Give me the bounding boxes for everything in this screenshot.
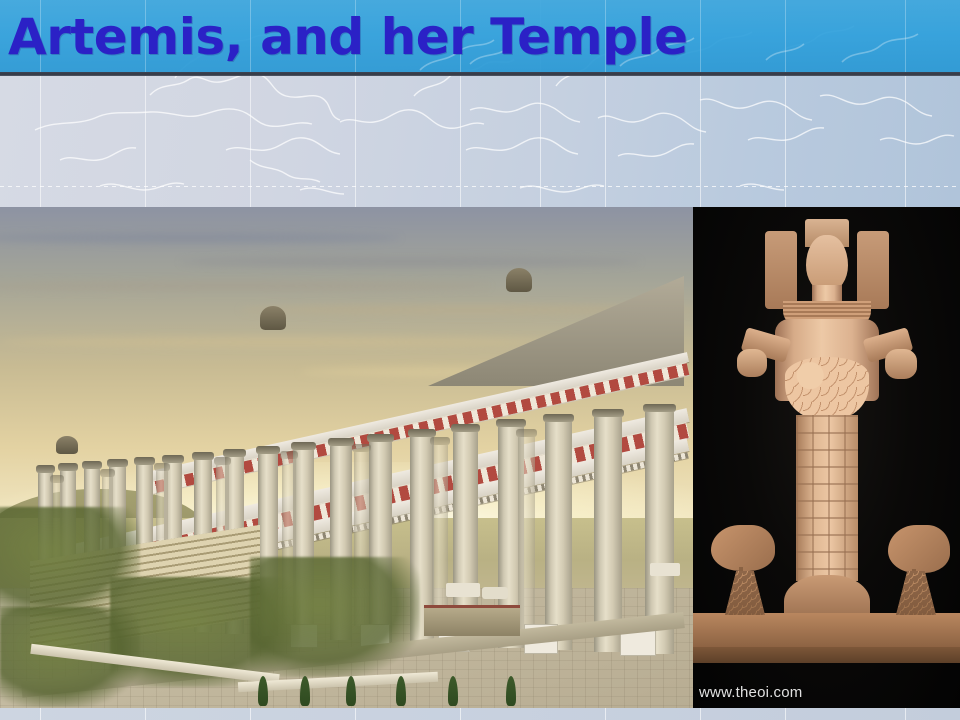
statue-plinth	[693, 613, 960, 647]
cloud-streak	[0, 233, 400, 243]
header-divider-rule	[0, 72, 960, 76]
artemis-statue-image: www.theoi.com	[693, 207, 960, 708]
ox-cart	[650, 563, 680, 576]
deer-figure-right	[888, 525, 950, 573]
sacrificial-altar	[424, 605, 520, 636]
temple-of-artemis-image	[0, 207, 693, 708]
footer-gridline	[40, 708, 41, 720]
banner-gridline	[700, 0, 701, 72]
slide-header: Artemis, and her Temple	[0, 0, 960, 207]
temple-column	[518, 436, 535, 630]
statue-halo-right	[857, 231, 889, 309]
footer-gridline	[460, 708, 461, 720]
statue-head	[806, 235, 848, 291]
banner-gridline	[785, 0, 786, 72]
statue-plinth-shadow	[693, 647, 960, 663]
statue-ovoid-protuberances	[785, 357, 869, 419]
title-banner: Artemis, and her Temple	[0, 0, 960, 72]
deer-figure-left	[711, 525, 775, 571]
statue-halo-left	[765, 231, 797, 309]
footer-gridline	[250, 708, 251, 720]
footer-gridline	[700, 708, 701, 720]
slide-title: Artemis, and her Temple	[8, 8, 688, 66]
slide: Artemis, and her Temple	[0, 0, 960, 720]
footer-gridline	[355, 708, 356, 720]
statue-left-hand	[737, 349, 767, 377]
footer-gridline	[905, 708, 906, 720]
temple-column	[432, 444, 448, 628]
statue-right-hand	[885, 349, 917, 379]
ox-cart	[446, 583, 480, 597]
ox-animal	[482, 587, 508, 599]
banner-gridline	[905, 0, 906, 72]
footer-strip	[0, 708, 960, 720]
images-row: www.theoi.com	[0, 207, 960, 712]
statue-relief-skirt	[796, 415, 858, 581]
vegetation	[250, 557, 420, 677]
footer-gridline	[145, 708, 146, 720]
source-watermark: www.theoi.com	[699, 684, 802, 701]
footer-gridline	[605, 708, 606, 720]
footer-gridline	[785, 708, 786, 720]
